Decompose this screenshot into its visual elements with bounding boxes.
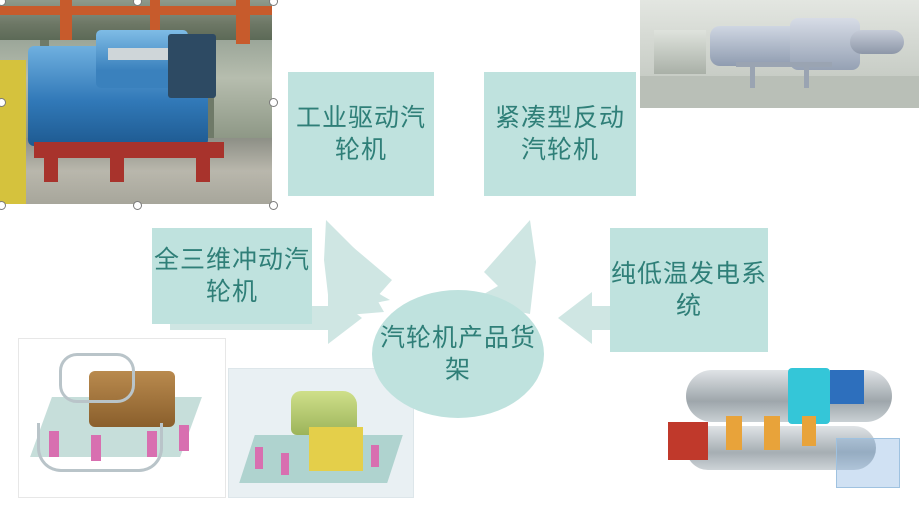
node-full-3d-impulse-turbine[interactable]: 全三维冲动汽轮机: [152, 228, 312, 324]
selection-handle[interactable]: [269, 201, 278, 210]
node-low-temperature-power-system[interactable]: 纯低温发电系统: [610, 228, 768, 352]
slide-canvas: 工业驱动汽轮机 紧凑型反动汽轮机 全三维冲动汽轮机 纯低温发电系统 汽轮机产品货…: [0, 0, 919, 506]
selection-handle[interactable]: [269, 0, 278, 6]
center-node-label: 汽轮机产品货架: [372, 322, 544, 387]
node-label: 工业驱动汽轮机: [288, 102, 434, 166]
node-compact-reaction-turbine[interactable]: 紧凑型反动汽轮机: [484, 72, 636, 196]
industrial-turbine-assembly-photo: [0, 0, 272, 204]
center-node-turbine-product-shelf[interactable]: 汽轮机产品货架: [372, 290, 544, 418]
node-industrial-drive-turbine[interactable]: 工业驱动汽轮机: [288, 72, 434, 196]
node-label: 紧凑型反动汽轮机: [484, 102, 636, 166]
node-label: 全三维冲动汽轮机: [152, 244, 312, 308]
selection-handle[interactable]: [0, 201, 6, 210]
node-label: 纯低温发电系统: [610, 258, 768, 322]
selection-handle[interactable]: [269, 98, 278, 107]
selection-handle[interactable]: [133, 201, 142, 210]
turbine-generator-render: [640, 0, 919, 108]
